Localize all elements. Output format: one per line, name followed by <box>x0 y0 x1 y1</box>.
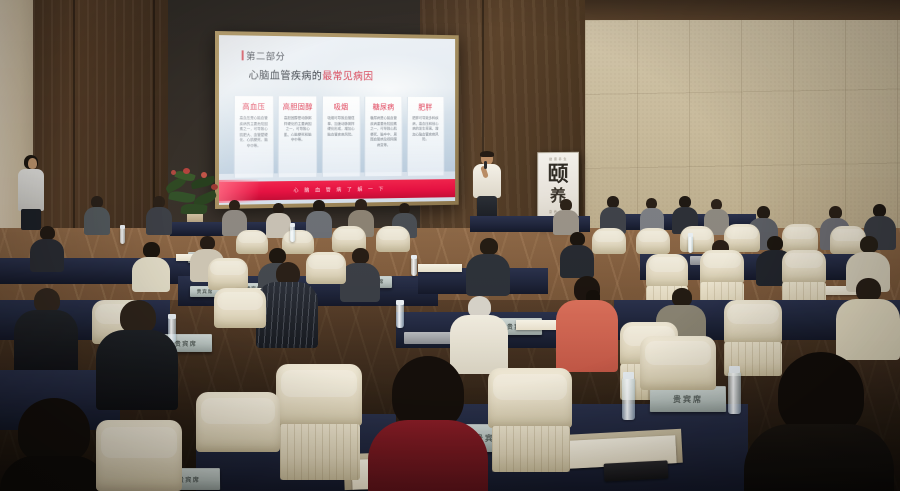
banquet-chair <box>592 228 626 254</box>
slide-kicker-text: 第二部分 <box>246 48 285 62</box>
banquet-chair <box>376 226 410 252</box>
head <box>352 248 369 264</box>
torso <box>30 239 64 272</box>
projection-screen: 第二部分 心脑血管疾病的最常见病因 高血压 高血压是心脑血管疾病的主要危险因素之… <box>219 35 455 205</box>
standing-attendee-head <box>28 158 37 169</box>
water-bottle <box>411 258 417 276</box>
slide-kicker: 第二部分 <box>241 48 285 62</box>
torso <box>744 424 894 491</box>
flower <box>183 168 190 174</box>
chair-skirt <box>492 426 570 472</box>
bottle-cap <box>290 223 295 227</box>
smartphone <box>604 460 669 481</box>
slide-card: 高胆固醇 高胆固醇是动脉粥样硬化的主要病因之一，可导致心肌、心脑梗死和脑卒中等。 <box>278 96 317 177</box>
banquet-chair <box>724 300 782 344</box>
head <box>767 236 783 251</box>
vip-tent-card-label: 贵宾席 <box>175 339 197 348</box>
slide-title: 心脑血管疾病的最常见病因 <box>249 68 374 84</box>
laptop <box>404 332 454 344</box>
slide-kicker-bar <box>241 50 243 60</box>
handout-paper <box>418 264 462 272</box>
slide-card: 肥胖 肥胖可导致多种疾病，高血压和冠心病的发生率高，增加心脑血管疾病风险。 <box>407 97 444 176</box>
wood-seam <box>73 0 75 250</box>
head <box>200 236 215 250</box>
audience-member-foreground <box>0 398 108 491</box>
presenter-shirt <box>473 164 501 198</box>
chair-skirt <box>280 424 360 480</box>
banquet-chair <box>646 254 688 288</box>
torso <box>836 299 900 360</box>
banquet-chair <box>214 288 266 328</box>
slide-card-body: 糖尿病是心脑血管疾病重要危险因素之一，可导致心肌梗死、脑卒中、周围血管病及视网膜… <box>368 116 398 148</box>
water-bottle <box>728 372 741 414</box>
vip-tent-card: 贵宾席 <box>650 386 726 412</box>
audience-member <box>96 300 178 410</box>
banquet-chair <box>196 392 280 452</box>
banner-header-note: 健 康 养 生 <box>538 157 578 161</box>
banquet-chair <box>636 228 670 254</box>
bottle-cap <box>688 233 693 237</box>
banquet-chair <box>276 364 362 426</box>
bottle-cap <box>120 225 125 229</box>
water-bottle <box>688 236 693 253</box>
audience-member <box>84 196 110 234</box>
slide-card-heading: 高血压 <box>238 101 270 112</box>
torso <box>466 254 510 296</box>
torso-coral-top <box>556 300 618 372</box>
conference-room-photo: 第二部分 心脑血管疾病的最常见病因 高血压 高血压是心脑血管疾病的主要危险因素之… <box>0 0 900 491</box>
banquet-chair <box>640 336 716 390</box>
projection-screen-frame: 第二部分 心脑血管疾病的最常见病因 高血压 高血压是心脑血管疾病的主要危险因素之… <box>215 31 459 209</box>
audience-member <box>340 248 380 302</box>
audience-member <box>466 238 510 296</box>
audience-member <box>14 288 78 378</box>
slide-cards: 高血压 高血压是心脑血管疾病的主要危险因素之一，可导致心肌肥大、血管壁硬化、心肌… <box>234 96 444 178</box>
head <box>143 242 160 258</box>
slide-card-heading: 肥胖 <box>411 102 441 113</box>
slide-title-plain: 心脑血管疾病的 <box>249 70 323 82</box>
bottle-cap <box>411 255 417 259</box>
slide-card: 糖尿病 糖尿病是心脑血管疾病重要危险因素之一，可导致心肌梗死、脑卒中、周围血管病… <box>365 97 403 177</box>
banquet-chair <box>782 250 826 284</box>
head <box>40 226 55 240</box>
bottle-cap <box>729 366 740 373</box>
bottle-cap <box>623 372 634 379</box>
head <box>480 238 498 255</box>
torso-suit <box>14 310 78 378</box>
slide-card-body: 高胆固醇是动脉粥样硬化的主要病因之一，可导致心肌、心脑梗死和脑卒中等。 <box>282 116 313 143</box>
audience-member <box>30 226 64 272</box>
banner-character-top: 颐 <box>548 163 569 183</box>
wood-header-right <box>585 0 900 22</box>
flower <box>171 170 176 175</box>
torso <box>84 207 110 235</box>
banquet-chair <box>208 258 248 290</box>
audience-member <box>553 199 579 235</box>
torso-red-top <box>368 420 488 491</box>
microphone <box>484 161 487 169</box>
torso <box>132 257 170 292</box>
head <box>860 236 878 253</box>
audience-member <box>132 242 170 292</box>
standing-attendee <box>16 155 46 230</box>
audience-member-foreground <box>368 356 488 491</box>
floral-arrangement <box>163 166 225 224</box>
head <box>120 300 156 334</box>
slide-card: 吸烟 吸烟可导致血管痉挛、加速动脉粥样硬化形成，增加心脑血管疾病风险。 <box>322 97 360 177</box>
slide-footer-text: 心 脑 血 管 病 了 解 一 下 <box>294 186 386 194</box>
slide-card-heading: 糖尿病 <box>368 102 398 113</box>
banquet-chair <box>700 250 744 284</box>
water-bottle <box>290 226 295 242</box>
torso <box>560 245 594 278</box>
torso <box>340 263 380 302</box>
head <box>392 356 464 430</box>
slide-card-heading: 吸烟 <box>326 102 357 113</box>
bottle-cap <box>396 300 404 305</box>
audience-member <box>560 232 594 278</box>
water-bottle <box>622 378 635 420</box>
torso <box>146 207 172 235</box>
torso <box>0 456 108 491</box>
flower <box>211 184 218 190</box>
water-bottle <box>120 228 125 244</box>
foliage <box>168 189 196 204</box>
banquet-chair <box>96 420 182 491</box>
slide-card: 高血压 高血压是心脑血管疾病的主要危险因素之一，可导致心肌肥大、血管壁硬化、心肌… <box>234 96 274 178</box>
slide-card-heading: 高胆固醇 <box>282 101 313 112</box>
head <box>18 398 90 464</box>
vip-tent-card-label: 贵宾席 <box>673 394 703 405</box>
head <box>570 232 585 246</box>
slide-title-highlight: 最常见病因 <box>322 70 373 82</box>
audience-member-foreground <box>744 352 894 491</box>
flower <box>201 172 207 178</box>
audience-member <box>556 276 618 372</box>
banquet-chair <box>488 368 572 428</box>
slide-card-body: 吸烟可导致血管痉挛、加速动脉粥样硬化形成，增加心脑血管疾病风险。 <box>326 116 357 138</box>
audience-member <box>836 278 900 360</box>
water-bottle <box>396 304 404 328</box>
torso-suit <box>96 330 178 410</box>
audience-member <box>146 196 172 234</box>
slide-card-body: 肥胖可导致多种疾病，高血压和冠心病的发生率高，增加心脑血管疾病风险。 <box>411 116 441 143</box>
presenter-hair <box>480 151 494 157</box>
slide-card-body: 高血压是心脑血管疾病的主要危险因素之一，可导致心肌肥大、血管壁硬化、心肌梗死、脑… <box>238 116 270 149</box>
standing-attendee-shirt <box>18 169 44 211</box>
